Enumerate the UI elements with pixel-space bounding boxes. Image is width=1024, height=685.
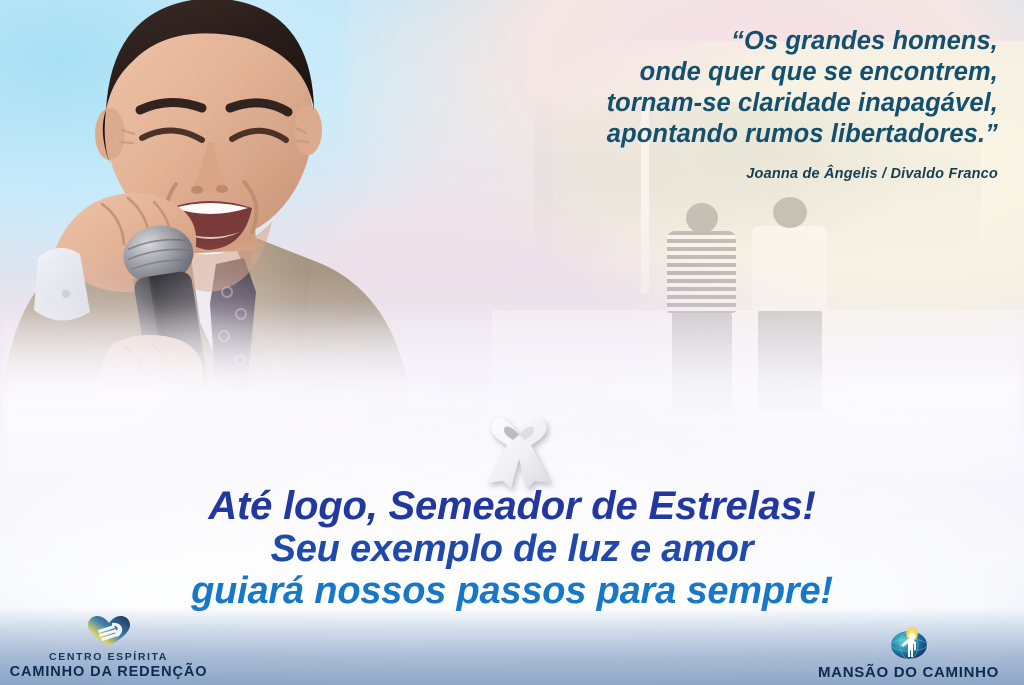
quote-line-1: “Os grandes homens, [438, 26, 998, 57]
quote-line-2: onde quer que se encontrem, [438, 57, 998, 88]
globe-figure-icon [889, 623, 929, 661]
footer-bar: CENTRO ESPÍRITA CAMINHO DA REDENÇÃO [0, 607, 1024, 685]
quote-attribution: Joanna de Ângelis / Divaldo Franco [438, 166, 998, 182]
message-line-3: guiará nossos passos para sempre! [0, 570, 1024, 612]
memorial-poster: “Os grandes homens, onde quer que se enc… [0, 0, 1024, 685]
message-line-2: Seu exemplo de luz e amor [0, 528, 1024, 570]
white-mourning-ribbon-icon [481, 407, 557, 489]
logo-centro-espirita[interactable]: CENTRO ESPÍRITA CAMINHO DA REDENÇÃO [6, 614, 211, 681]
logo-mansao-do-caminho[interactable]: MANSÃO DO CAMINHO [801, 623, 1016, 681]
quote-block: “Os grandes homens, onde quer que se enc… [438, 26, 998, 182]
person-head [686, 203, 718, 233]
quote-line-3: tornam-se claridade inapagável, [438, 88, 998, 119]
logo-line-2: MANSÃO DO CAMINHO [818, 664, 999, 681]
quote-line-4: apontando rumos libertadores.” [438, 119, 998, 150]
message-line-1: Até logo, Semeador de Estrelas! [0, 484, 1024, 528]
hands-heart-icon [86, 614, 132, 648]
logo-line-2: CAMINHO DA REDENÇÃO [10, 664, 208, 681]
person-head [773, 197, 807, 228]
farewell-message: Até logo, Semeador de Estrelas! Seu exem… [0, 484, 1024, 612]
logo-line-1: CENTRO ESPÍRITA [49, 651, 168, 664]
